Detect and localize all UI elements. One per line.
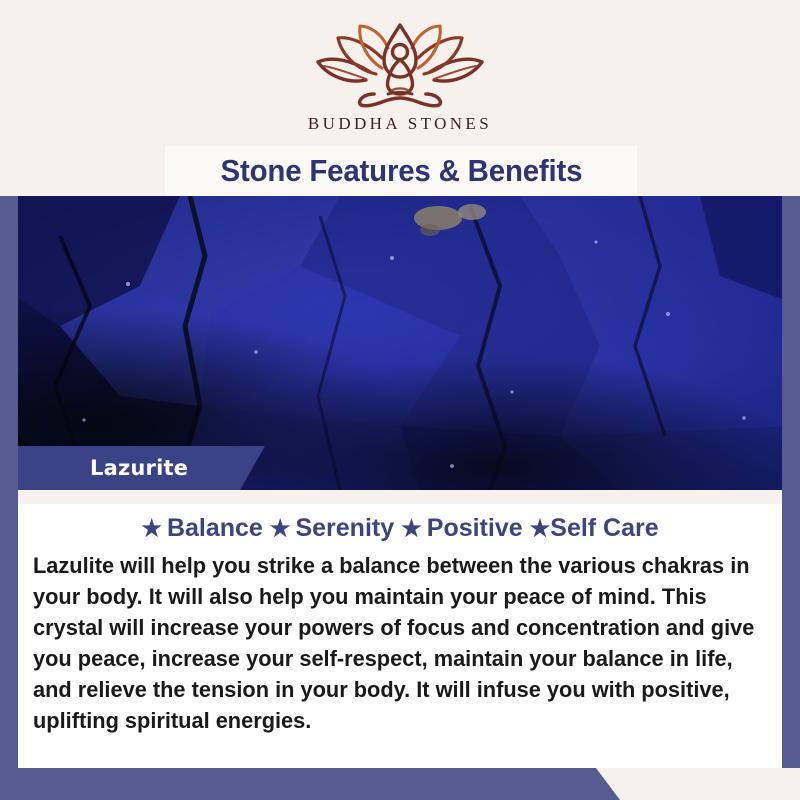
attribute-list: ★ Balance ★ Serenity ★ Positive ★ Self C… — [18, 514, 782, 543]
star-icon: ★ — [401, 517, 422, 540]
corner-fill-bottom-right — [600, 768, 800, 800]
star-icon: ★ — [141, 517, 162, 540]
attribute-item-positive: ★ Positive — [401, 514, 523, 543]
stone-name-tab: Lazurite — [18, 446, 265, 490]
attribute-label: Self Care — [550, 514, 658, 543]
star-icon: ★ — [270, 517, 291, 540]
attribute-label: Serenity — [295, 514, 394, 543]
poster-root: BUDDHA STONES Stone Features & Benefits — [0, 0, 800, 800]
title-banner: Stone Features & Benefits — [165, 146, 637, 196]
stone-photo — [0, 196, 800, 490]
stone-description: Lazulite will help you strike a balance … — [33, 550, 756, 736]
attribute-item-balance: ★ Balance — [141, 514, 263, 543]
lotus-meditation-icon — [312, 22, 488, 108]
attribute-item-serenity: ★ Serenity — [270, 514, 394, 543]
corner-decoration-bottom — [0, 768, 620, 800]
star-icon: ★ — [530, 517, 551, 540]
card-top-strip — [18, 490, 782, 504]
stone-photo-graphic — [0, 196, 800, 490]
content-card: ★ Balance ★ Serenity ★ Positive ★ Self C… — [18, 490, 782, 768]
attribute-item-self-care: ★ Self Care — [530, 514, 659, 543]
attribute-label: Balance — [167, 514, 263, 543]
brand-name: BUDDHA STONES — [308, 114, 492, 134]
page-title: Stone Features & Benefits — [220, 153, 582, 189]
stone-name: Lazurite — [90, 456, 188, 480]
attribute-label: Positive — [427, 514, 523, 543]
